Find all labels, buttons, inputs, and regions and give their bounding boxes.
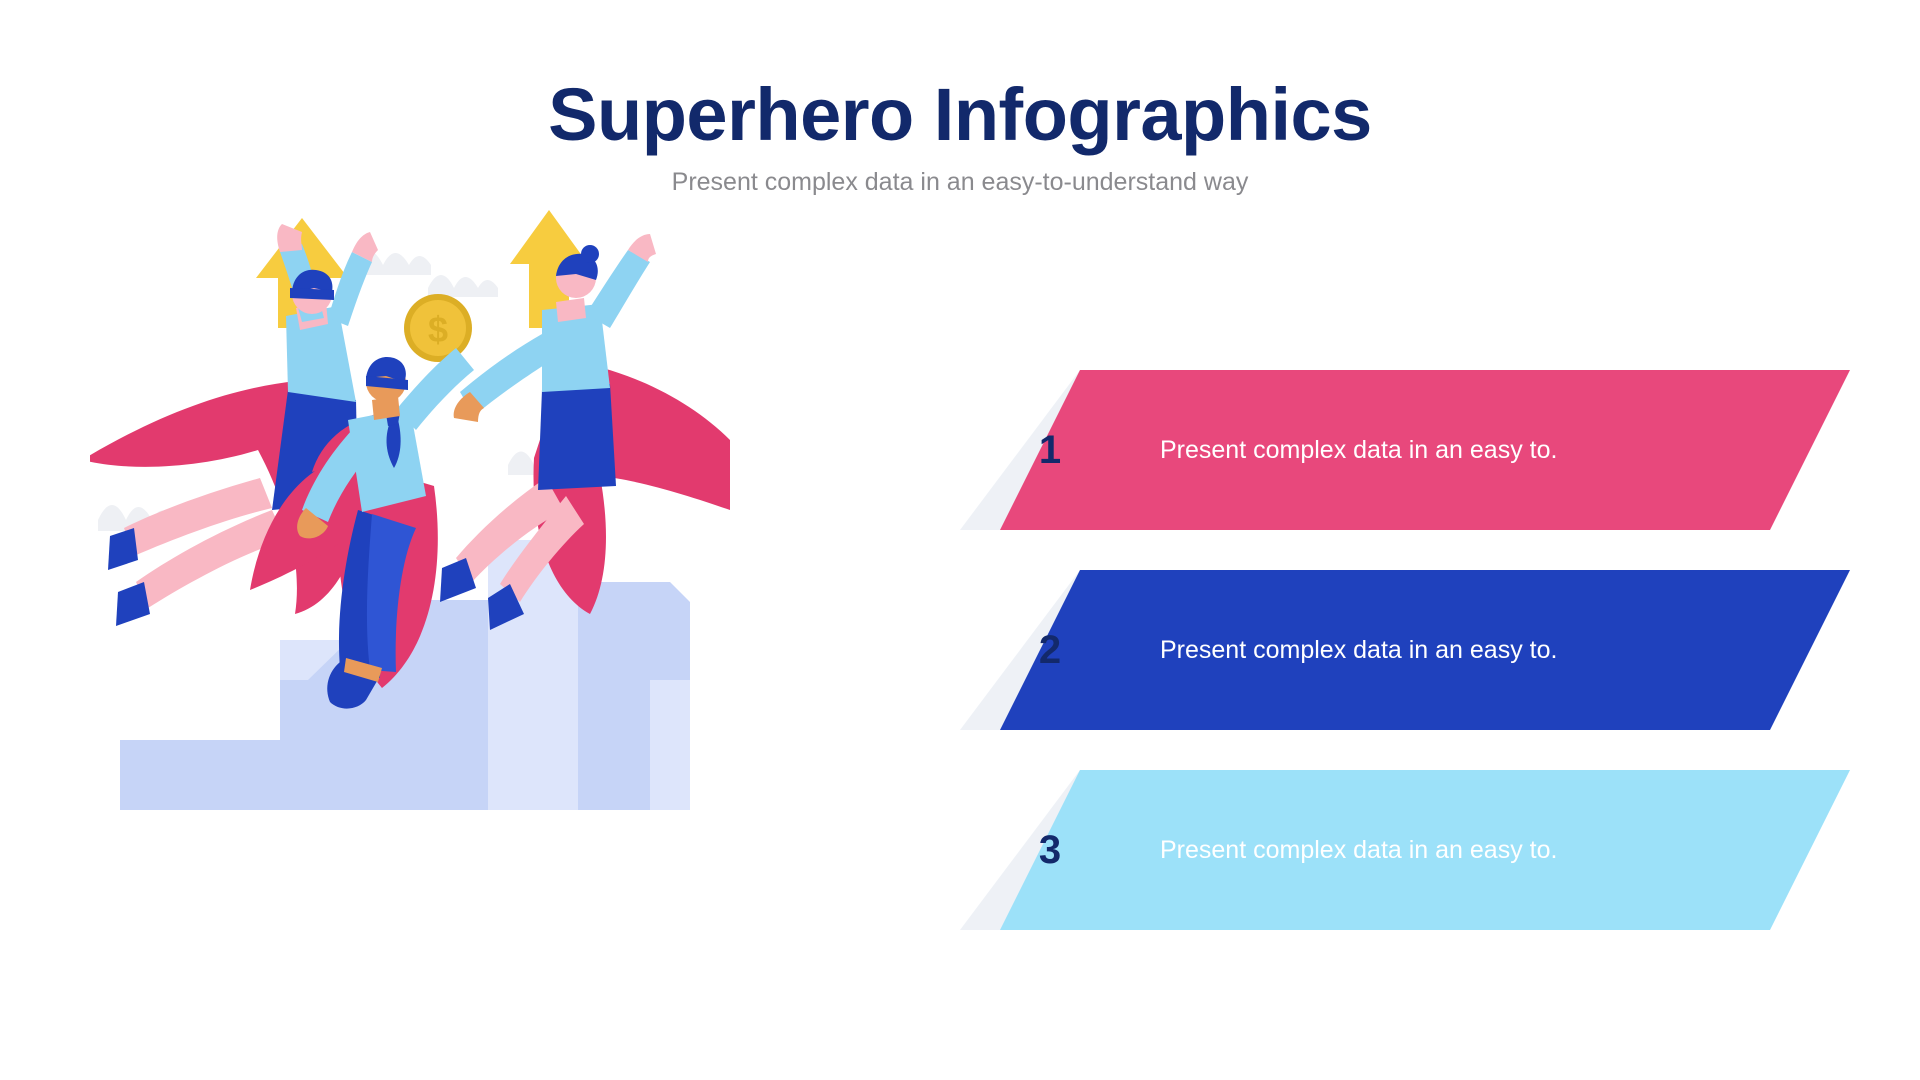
step-number-2: 2: [1020, 570, 1080, 730]
dollar-coin: $: [404, 294, 472, 362]
cloud-group-2: [428, 275, 498, 297]
step-text-3: Present complex data in an easy to.: [1160, 770, 1557, 930]
step-row-1[interactable]: 1 Present complex data in an easy to.: [960, 370, 1890, 530]
steps-list: 1 Present complex data in an easy to. 2 …: [960, 370, 1890, 930]
page-title: Superhero Infographics: [0, 76, 1920, 154]
step-number-1: 1: [1020, 370, 1080, 530]
header: Superhero Infographics Present complex d…: [0, 0, 1920, 197]
step-text-2: Present complex data in an easy to.: [1160, 570, 1557, 730]
page-subtitle: Present complex data in an easy-to-under…: [0, 168, 1920, 197]
superhero-female-left: [90, 224, 378, 626]
svg-text:$: $: [428, 309, 448, 350]
superhero-illustration: $: [90, 210, 730, 860]
step-row-3[interactable]: 3 Present complex data in an easy to.: [960, 770, 1890, 930]
step-row-2[interactable]: 2 Present complex data in an easy to.: [960, 570, 1890, 730]
step-text-1: Present complex data in an easy to.: [1160, 370, 1557, 530]
step-number-3: 3: [1020, 770, 1080, 930]
